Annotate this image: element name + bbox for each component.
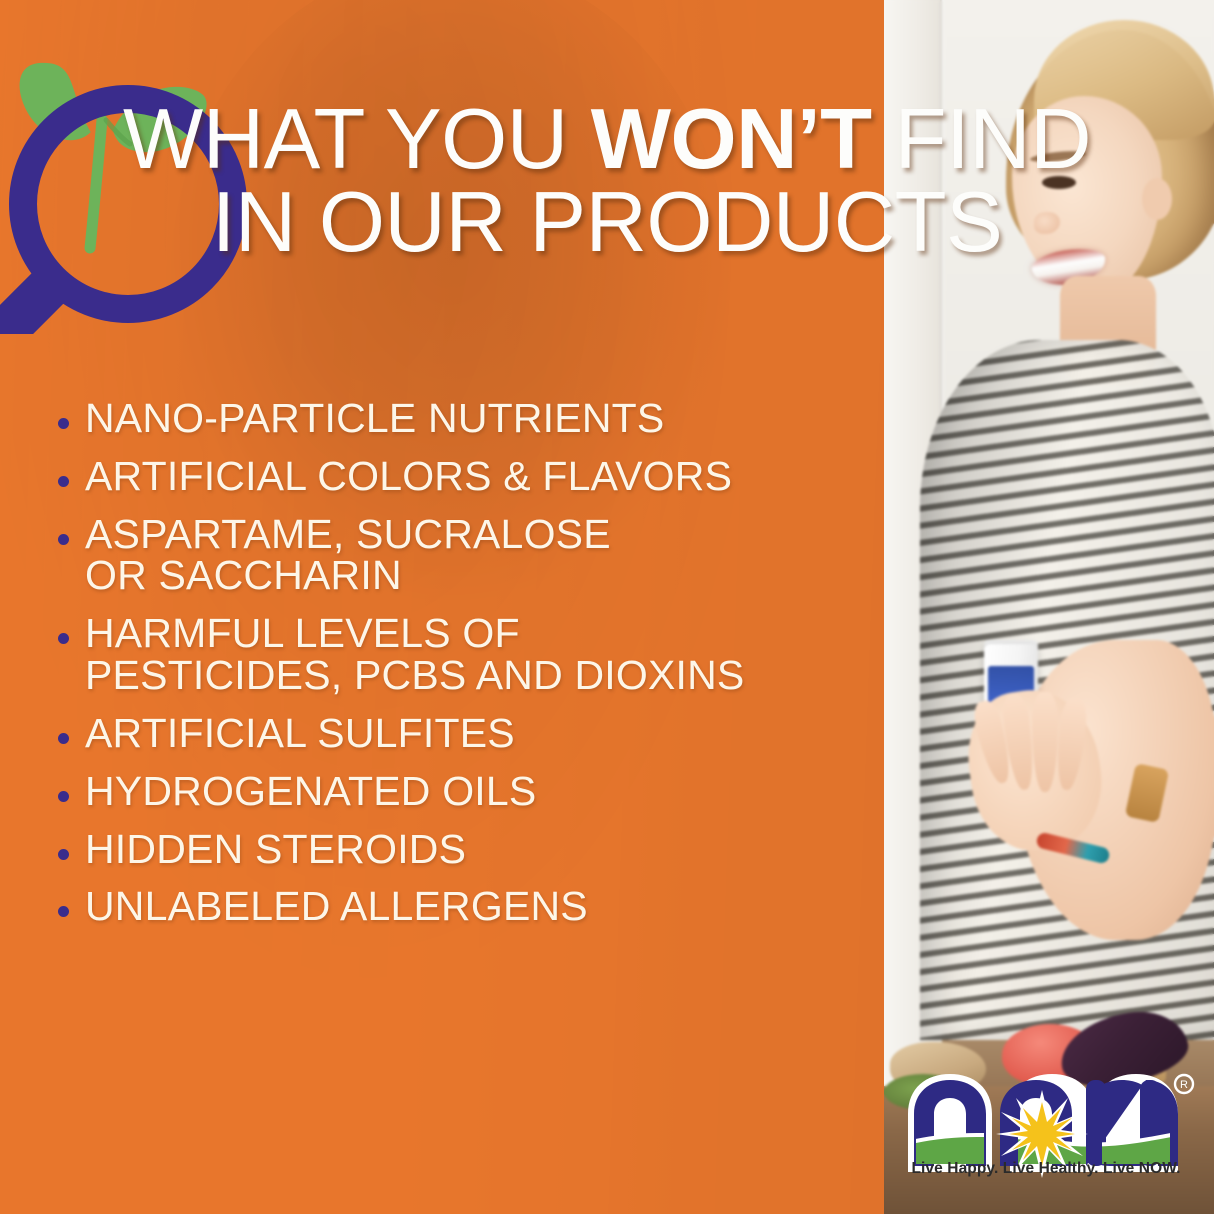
brand-tagline: Live Happy. Live Healthy. Live NOW. <box>896 1160 1196 1178</box>
list-item: ASPARTAME, SUCRALOSE OR SACCHARIN <box>58 514 878 598</box>
magnifying-glass-icon <box>0 34 308 334</box>
list-item: HYDROGENATED OILS <box>58 771 878 813</box>
ear <box>1142 178 1172 220</box>
list-item: ARTIFICIAL COLORS & FLAVORS <box>58 456 878 498</box>
bullet-dot-icon <box>58 633 69 644</box>
eye <box>1042 176 1076 189</box>
list-item: UNLABELED ALLERGENS <box>58 886 878 928</box>
promo-graphic: WHAT YOU WON’T FIND IN OUR PRODUCTS NANO… <box>0 0 1214 1214</box>
bullet-dot-icon <box>58 849 69 860</box>
bullet-dot-icon <box>58 418 69 429</box>
bullet-dot-icon <box>58 733 69 744</box>
list-item-label: HYDROGENATED OILS <box>85 771 536 813</box>
list-item: ARTIFICIAL SULFITES <box>58 713 878 755</box>
list-item: HARMFUL LEVELS OF PESTICIDES, PCBS AND D… <box>58 613 878 697</box>
registered-mark-icon: R <box>1175 1075 1193 1093</box>
list-item: NANO-PARTICLE NUTRIENTS <box>58 398 878 440</box>
list-item-label: HIDDEN STEROIDS <box>85 829 466 871</box>
lifestyle-photo <box>884 0 1214 1214</box>
bullet-dot-icon <box>58 906 69 917</box>
list-item-label: HARMFUL LEVELS OF PESTICIDES, PCBS AND D… <box>85 613 744 697</box>
bullet-dot-icon <box>58 534 69 545</box>
bullet-dot-icon <box>58 476 69 487</box>
list-item-label: UNLABELED ALLERGENS <box>85 886 588 928</box>
list-item-label: NANO-PARTICLE NUTRIENTS <box>85 398 664 440</box>
svg-text:R: R <box>1180 1079 1188 1091</box>
list-item: HIDDEN STEROIDS <box>58 829 878 871</box>
now-wordmark: R <box>896 1074 1196 1200</box>
exclusion-list: NANO-PARTICLE NUTRIENTS ARTIFICIAL COLOR… <box>58 398 878 944</box>
now-brand-logo: R <box>896 1068 1196 1200</box>
list-item-label: ARTIFICIAL COLORS & FLAVORS <box>85 456 732 498</box>
list-item-label: ARTIFICIAL SULFITES <box>85 713 515 755</box>
list-item-label: ASPARTAME, SUCRALOSE OR SACCHARIN <box>85 514 611 598</box>
bullet-dot-icon <box>58 791 69 802</box>
